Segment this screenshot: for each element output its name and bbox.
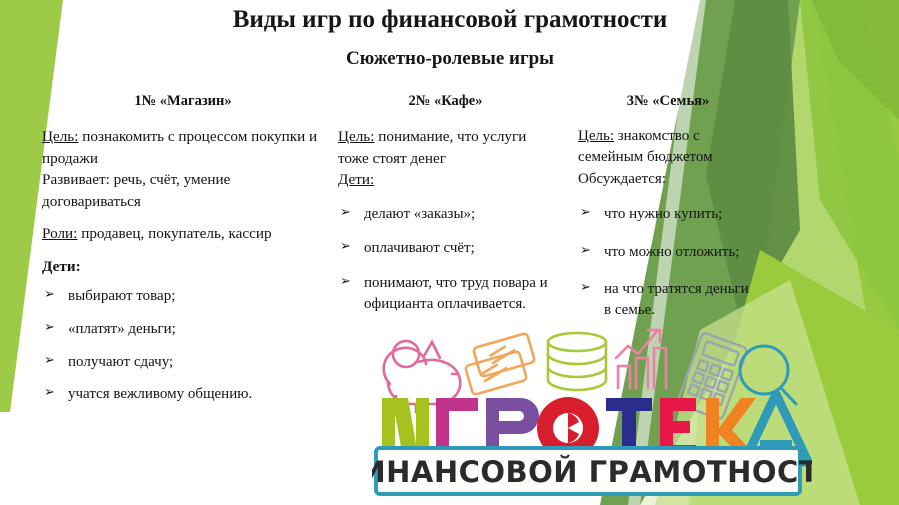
column-paragraph: Развивает: речь, счёт, умение договарива… [42,169,324,212]
list-item: ➢ что можно отложить; [578,242,758,263]
page-subtitle: Сюжетно-ролевые игры [90,48,810,70]
paragraph-label: Цель: [338,128,374,145]
arrow-bullet-icon: ➢ [340,237,351,255]
list-item-label: учатся вежливому общению. [68,386,252,402]
coin-stack-icon [548,333,606,390]
banknotes-icon [465,333,535,395]
list-item-label: выбирают товар; [68,288,175,304]
list-item-label: что можно отложить; [604,244,739,260]
column-paragraph: Цель: знакомство с семейным бюджетом [578,126,758,169]
list-item-label: получают сдачу; [68,354,173,370]
page-title: Виды игр по финансовой грамотности [90,6,810,34]
arrow-bullet-icon: ➢ [44,318,55,336]
igroteka-logo: ФИНАНСОВОЙ ГРАМОТНОСТИ [372,322,812,502]
column-heading: 3№ «Семья» [578,94,758,110]
bullet-list: ➢ делают «заказы»; ➢ оплачивают счёт; ➢ … [338,204,553,315]
column-semya: 3№ «Семья» Цель: знакомство с семейным б… [578,94,758,338]
column-paragraph: Дети: [338,169,553,191]
column-paragraph: Дети: [42,256,324,278]
list-item: ➢ понимают, что труд повара и официанта … [338,273,553,314]
arrow-bullet-icon: ➢ [44,383,55,401]
column-paragraph: Обсуждается: [578,169,758,190]
list-item-label: оплачивают счёт; [364,240,475,256]
column-heading: 1№ «Магазин» [42,94,324,110]
list-item: ➢ «платят» деньги; [42,319,324,340]
column-kafe: 2№ «Кафе» Цель: понимание, что услуги то… [338,94,553,328]
paragraph-text: познакомить с процессом покупки и продаж… [42,128,317,167]
arrow-bullet-icon: ➢ [580,278,591,296]
list-item: ➢ что нужно купить; [578,204,758,225]
arrow-bullet-icon: ➢ [44,351,55,369]
arrow-bullet-icon: ➢ [580,241,591,259]
list-item: ➢ учатся вежливому общению. [42,384,324,405]
list-item: ➢ получают сдачу; [42,352,324,373]
arrow-bullet-icon: ➢ [340,203,351,221]
list-item-label: что нужно купить; [604,206,722,222]
bullet-list: ➢ выбирают товар; ➢ «платят» деньги; ➢ п… [42,286,324,405]
list-item-label: «платят» деньги; [68,321,176,337]
list-item: ➢ на что тратятся деньги в семье. [578,279,758,320]
magnifier-icon [740,346,796,404]
paragraph-label: Цель: [578,128,614,144]
column-paragraph: Цель: познакомить с процессом покупки и … [42,126,324,169]
list-item: ➢ делают «заказы»; [338,204,553,225]
column-magazin: 1№ «Магазин» Цель: познакомить с процесс… [42,94,324,417]
bullet-list: ➢ что нужно купить; ➢ что можно отложить… [578,204,758,321]
arrow-bullet-icon: ➢ [340,272,351,290]
paragraph-label: Развивает: [42,171,110,188]
list-item-label: понимают, что труд повара и официанта оп… [364,275,548,312]
paragraph-label: Цель: [42,128,78,145]
logo-subtitle: ФИНАНСОВОЙ ГРАМОТНОСТИ [372,455,812,489]
paragraph-label: Дети: [338,171,374,188]
paragraph-label: Обсуждается: [578,171,666,187]
list-item: ➢ оплачивают счёт; [338,238,553,259]
arrow-bullet-icon: ➢ [44,285,55,303]
list-item-label: делают «заказы»; [364,206,475,222]
arrow-bullet-icon: ➢ [580,203,591,221]
list-item: ➢ выбирают товар; [42,286,324,307]
paragraph-text: продавец, покупатель, кассир [77,225,271,242]
presentation-slide: Виды игр по финансовой грамотности Сюжет… [0,0,899,505]
bar-chart-arrow-icon [616,330,666,388]
column-paragraph: Цель: понимание, что услуги тоже стоят д… [338,126,553,169]
column-heading: 2№ «Кафе» [338,94,553,110]
column-paragraph: Роли: продавец, покупатель, кассир [42,223,324,245]
paragraph-label: Дети: [42,258,81,275]
paragraph-label: Роли: [42,225,77,242]
list-item-label: на что тратятся деньги в семье. [604,281,749,318]
